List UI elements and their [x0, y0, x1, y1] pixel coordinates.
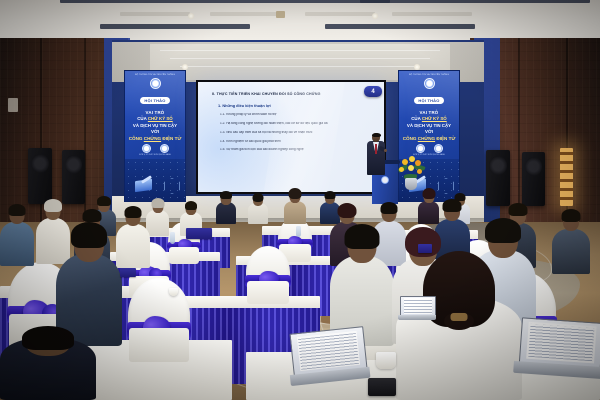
projection-screen: II. THỰC TIỄN TRIỂN KHAI CHUYỂN ĐỔI SỐ C…	[196, 80, 386, 194]
smartphone[interactable]	[368, 378, 396, 396]
ceiling-panel	[360, 0, 590, 3]
name-card	[186, 228, 212, 239]
name-card	[418, 244, 432, 253]
pa-speaker	[522, 152, 545, 206]
wall-switch	[8, 98, 18, 112]
slide-surface: II. THỰC TIỄN TRIỂN KHAI CHUYỂN ĐỔI SỐ C…	[198, 82, 384, 192]
conference-hall-photo: BỘ THÔNG TIN VÀ TRUYỀN THÔNG HỘI THẢO VA…	[0, 0, 600, 400]
chair	[246, 246, 290, 304]
ceiling-vent	[392, 12, 472, 16]
attendee-foreground	[0, 330, 96, 400]
attendee	[56, 226, 122, 346]
ceiling-vent	[210, 12, 280, 16]
coffee-cup[interactable]	[376, 352, 396, 369]
amber-wall-light	[560, 148, 573, 206]
attendee	[552, 212, 590, 274]
slide-page-badge: 4	[364, 86, 382, 97]
laptop[interactable]	[400, 296, 434, 320]
ceiling-downlight	[372, 13, 378, 19]
water-bottle	[296, 226, 301, 237]
event-banner-left: BỘ THÔNG TIN VÀ TRUYỀN THÔNG HỘI THẢO VA…	[124, 70, 186, 202]
pa-speaker	[62, 150, 85, 204]
ceiling-vent	[120, 12, 190, 16]
ceiling-panel	[325, 24, 475, 29]
attendee	[284, 190, 306, 224]
attendee	[248, 194, 268, 224]
ceiling-panel	[60, 0, 390, 3]
hair-clip	[451, 313, 468, 321]
attendee	[216, 192, 236, 224]
laptop[interactable]	[518, 317, 600, 378]
ceiling-panel	[100, 24, 250, 29]
name-card	[120, 268, 136, 277]
pa-speaker	[486, 150, 510, 206]
attendee-foreground	[396, 256, 522, 400]
ceiling-downlight	[188, 13, 194, 19]
presenter	[366, 133, 386, 181]
flower-arrangement	[396, 156, 426, 190]
ceiling-fixture	[276, 11, 285, 18]
attendee	[0, 206, 34, 266]
banner-artwork	[125, 159, 185, 201]
chair	[128, 278, 190, 362]
water-bottle	[170, 232, 175, 244]
pa-speaker	[28, 148, 52, 204]
ceiling-vent	[305, 12, 375, 16]
laptop[interactable]	[289, 326, 366, 385]
